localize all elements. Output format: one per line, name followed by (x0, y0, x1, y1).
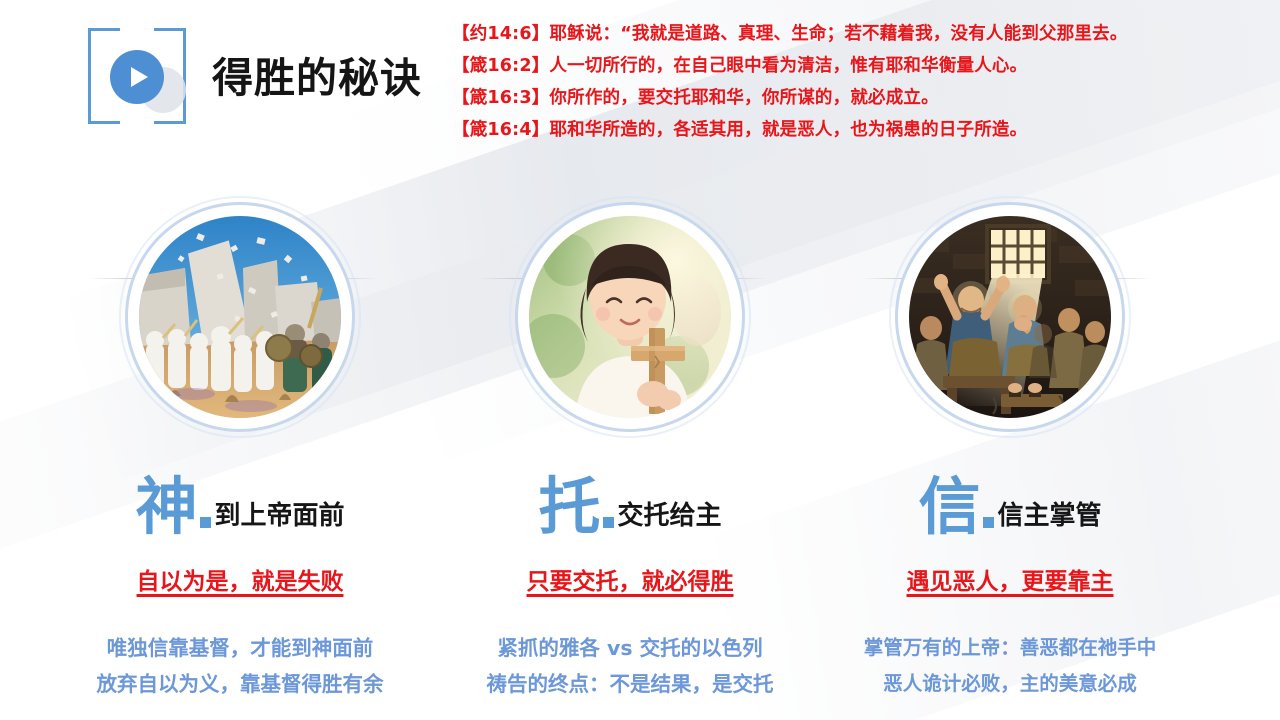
verse-line: 【箴16:4】耶和华所造的，各适其用，就是恶人，也为祸患的日子所造。 (452, 114, 1252, 146)
page-title: 得胜的秘诀 (212, 44, 422, 104)
accent-dot (983, 517, 994, 528)
column-body: 唯独信靠基督，才能到神面前 放弃自以为义，靠基督得胜有余 (30, 630, 450, 702)
big-character: 托 (538, 478, 613, 537)
column-headline: 神 到上帝面前 (30, 478, 450, 537)
play-button-icon (88, 28, 186, 124)
body-line: 放弃自以为义，靠基督得胜有余 (30, 666, 450, 702)
body-line: 恶人诡计必败，主的美意必成 (800, 666, 1220, 702)
column-key-line: 自以为是，就是失败 (30, 562, 450, 596)
child-cross-image (529, 216, 731, 418)
column-headline: 托 交托给主 (420, 478, 840, 537)
column-photo-child-cross (515, 202, 745, 432)
column-key-line: 只要交托，就必得胜 (420, 562, 840, 596)
column-subtitle: 交托给主 (618, 495, 722, 537)
body-line: 掌管万有的上帝：善恶都在祂手中 (800, 630, 1220, 666)
big-character: 神 (135, 478, 210, 537)
body-line: 唯独信靠基督，才能到神面前 (30, 630, 450, 666)
slide-header: 得胜的秘诀 【约14:6】耶稣说：“我就是道路、真理、生命；若不藉着我，没有人能… (0, 0, 1280, 165)
accent-dot (603, 517, 614, 528)
column-body: 紧抓的雅各 vs 交托的以色列 祷告的终点：不是结果，是交托 (420, 630, 840, 702)
column-body: 掌管万有的上帝：善恶都在祂手中 恶人诡计必败，主的美意必成 (800, 630, 1220, 702)
column-tuo: 托 交托给主 只要交托，就必得胜 紧抓的雅各 vs 交托的以色列 祷告的终点：不… (420, 190, 840, 432)
accent-dot (200, 517, 211, 528)
prison-prayer-image (909, 216, 1111, 418)
column-shen: 神 到上帝面前 自以为是，就是失败 唯独信靠基督，才能到神面前 放弃自以为义，靠… (30, 190, 450, 432)
play-circle-icon (110, 50, 164, 104)
column-subtitle: 到上帝面前 (215, 495, 345, 537)
column-photo-prison-prayer (895, 202, 1125, 432)
jericho-walls-image (139, 216, 341, 418)
column-photo-jericho (125, 202, 355, 432)
slide-canvas: 得胜的秘诀 【约14:6】耶稣说：“我就是道路、真理、生命；若不藉着我，没有人能… (0, 0, 1280, 720)
column-headline: 信 信主掌管 (800, 478, 1220, 537)
column-subtitle: 信主掌管 (998, 495, 1102, 537)
scripture-verses: 【约14:6】耶稣说：“我就是道路、真理、生命；若不藉着我，没有人能到父那里去。… (452, 18, 1252, 146)
verse-line: 【箴16:3】你所作的，要交托耶和华，你所谋的，就必成立。 (452, 82, 1252, 114)
column-xin: 信 信主掌管 遇见恶人，更要靠主 掌管万有的上帝：善恶都在祂手中 恶人诡计必败，… (800, 190, 1220, 432)
body-line: 紧抓的雅各 vs 交托的以色列 (420, 630, 840, 666)
body-line: 祷告的终点：不是结果，是交托 (420, 666, 840, 702)
verse-line: 【箴16:2】人一切所行的，在自己眼中看为清洁，惟有耶和华衡量人心。 (452, 50, 1252, 82)
big-character: 信 (918, 478, 993, 537)
column-key-line: 遇见恶人，更要靠主 (800, 562, 1220, 596)
verse-line: 【约14:6】耶稣说：“我就是道路、真理、生命；若不藉着我，没有人能到父那里去。 (452, 18, 1252, 50)
